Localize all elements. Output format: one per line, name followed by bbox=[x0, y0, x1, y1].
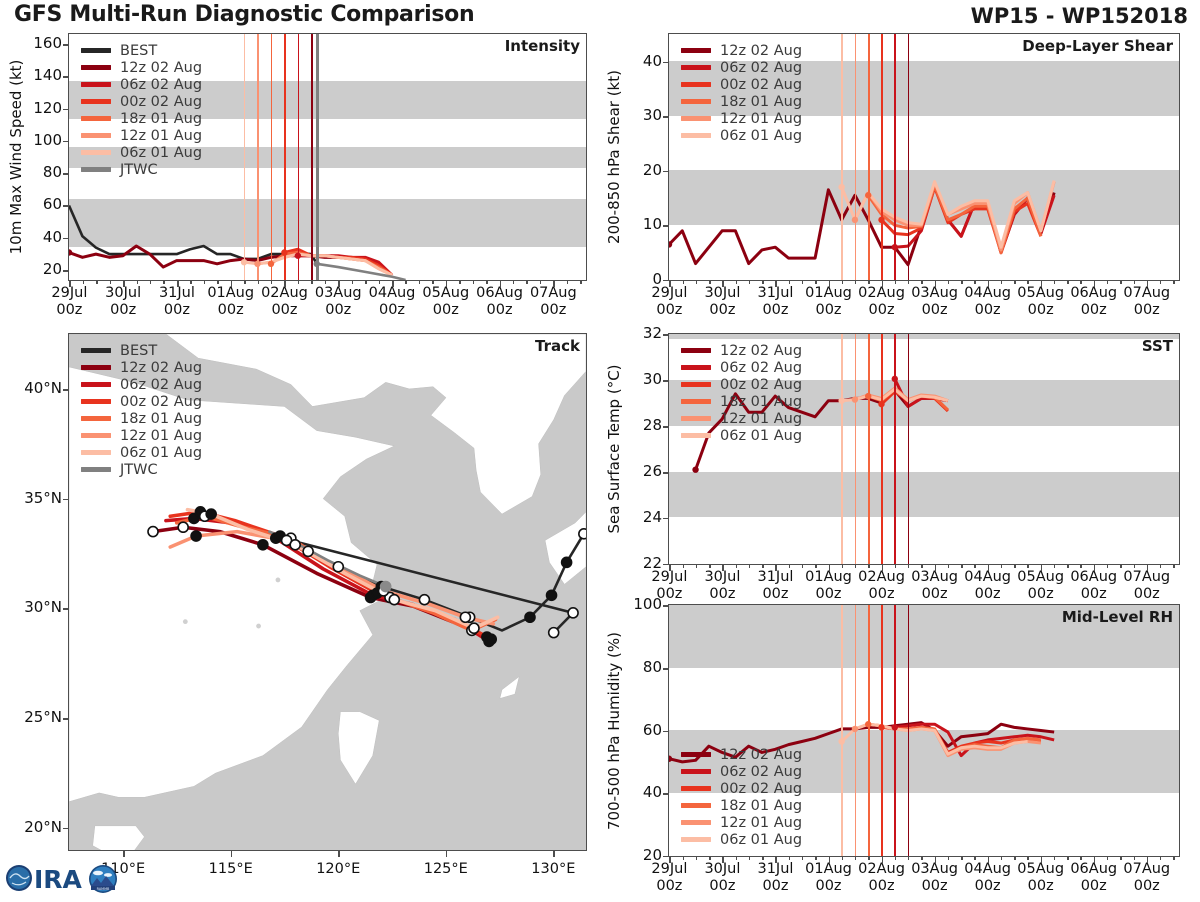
y-tick-label: 80 bbox=[622, 658, 662, 676]
x-tick-sublabel: 00z bbox=[1111, 878, 1183, 895]
legend-track: BEST12z 02 Aug06z 02 Aug00z 02 Aug18z 01… bbox=[81, 342, 202, 478]
legend-item[interactable]: 12z 02 Aug bbox=[81, 59, 202, 76]
x-minor-tick bbox=[736, 856, 737, 860]
legend-intensity: BEST12z 02 Aug06z 02 Aug00z 02 Aug18z 01… bbox=[81, 42, 202, 178]
legend-label: 18z 01 Aug bbox=[120, 411, 202, 427]
legend-color-swatch bbox=[681, 133, 711, 137]
legend-item[interactable]: 12z 02 Aug bbox=[81, 359, 202, 376]
legend-label: 00z 02 Aug bbox=[720, 377, 802, 393]
legend-label: 18z 01 Aug bbox=[720, 394, 802, 410]
legend-item[interactable]: BEST bbox=[81, 342, 202, 359]
x-minor-tick bbox=[1054, 856, 1055, 860]
legend-label: 12z 02 Aug bbox=[720, 747, 802, 763]
x-tick-mark bbox=[722, 856, 724, 863]
cira-logo: IRA RAMMB bbox=[4, 858, 124, 898]
legend-label: 06z 02 Aug bbox=[120, 77, 202, 93]
x-tick-mark bbox=[1094, 856, 1096, 863]
y-tick-mark bbox=[663, 793, 669, 795]
x-tick-mark bbox=[829, 856, 831, 863]
x-minor-tick bbox=[802, 856, 803, 860]
legend-label: BEST bbox=[120, 43, 157, 59]
legend-item[interactable]: 06z 02 Aug bbox=[81, 76, 202, 93]
legend-item[interactable]: 12z 01 Aug bbox=[681, 410, 802, 427]
y-tick-label: 60 bbox=[622, 721, 662, 739]
legend-sst: 12z 02 Aug06z 02 Aug00z 02 Aug18z 01 Aug… bbox=[681, 342, 802, 444]
plot-area-rh: Mid-Level RH12z 02 Aug06z 02 Aug00z 02 A… bbox=[668, 604, 1180, 857]
legend-color-swatch bbox=[81, 382, 111, 386]
legend-item[interactable]: 00z 02 Aug bbox=[81, 93, 202, 110]
x-tick-mark bbox=[1041, 856, 1043, 863]
legend-color-swatch bbox=[681, 382, 711, 386]
init-time-line bbox=[908, 605, 910, 856]
x-tick-label: 07Aug bbox=[1111, 861, 1183, 878]
legend-label: 06z 01 Aug bbox=[720, 428, 802, 444]
x-tick-mark bbox=[935, 856, 937, 863]
x-minor-tick bbox=[868, 856, 869, 860]
legend-item[interactable]: 18z 01 Aug bbox=[81, 110, 202, 127]
legend-color-swatch bbox=[81, 65, 111, 69]
x-tick-mark bbox=[882, 856, 884, 863]
legend-item[interactable]: 12z 02 Aug bbox=[681, 746, 802, 763]
x-minor-tick bbox=[961, 856, 962, 860]
legend-item[interactable]: 12z 01 Aug bbox=[81, 127, 202, 144]
x-minor-tick bbox=[815, 856, 816, 860]
legend-color-swatch bbox=[681, 837, 711, 841]
legend-label: 12z 01 Aug bbox=[120, 428, 202, 444]
legend-color-swatch bbox=[681, 82, 711, 86]
legend-color-swatch bbox=[81, 150, 111, 154]
x-minor-tick bbox=[1014, 856, 1015, 860]
y-tick-mark bbox=[663, 668, 669, 670]
legend-item[interactable]: 00z 02 Aug bbox=[681, 376, 802, 393]
legend-color-swatch bbox=[681, 803, 711, 807]
legend-item[interactable]: JTWC bbox=[81, 461, 202, 478]
x-tick-mark bbox=[1147, 856, 1149, 863]
x-minor-tick bbox=[683, 856, 684, 860]
x-minor-tick bbox=[1160, 856, 1161, 860]
legend-item[interactable]: 18z 01 Aug bbox=[681, 797, 802, 814]
legend-label: 06z 01 Aug bbox=[720, 832, 802, 848]
y-tick-mark bbox=[663, 605, 669, 607]
legend-item[interactable]: 00z 02 Aug bbox=[681, 76, 802, 93]
init-time-marker bbox=[669, 756, 672, 762]
legend-color-swatch bbox=[681, 48, 711, 52]
legend-item[interactable]: 06z 01 Aug bbox=[81, 444, 202, 461]
legend-color-swatch bbox=[81, 82, 111, 86]
legend-color-swatch bbox=[81, 467, 111, 471]
svg-text:RAMMB: RAMMB bbox=[97, 887, 110, 891]
legend-item[interactable]: 06z 01 Aug bbox=[681, 831, 802, 848]
legend-label: 18z 01 Aug bbox=[720, 798, 802, 814]
x-minor-tick bbox=[1107, 856, 1108, 860]
legend-label: 12z 01 Aug bbox=[120, 128, 202, 144]
legend-item[interactable]: 06z 01 Aug bbox=[681, 127, 802, 144]
x-minor-tick bbox=[789, 856, 790, 860]
panel-title-sst: SST bbox=[1142, 337, 1173, 355]
x-minor-tick bbox=[1080, 856, 1081, 860]
legend-color-swatch bbox=[681, 65, 711, 69]
legend-color-swatch bbox=[81, 416, 111, 420]
legend-label: 12z 02 Aug bbox=[720, 43, 802, 59]
y-tick-label: 100 bbox=[622, 595, 662, 613]
x-minor-tick bbox=[895, 856, 896, 860]
legend-color-swatch bbox=[81, 365, 111, 369]
legend-color-swatch bbox=[681, 416, 711, 420]
x-minor-tick bbox=[921, 856, 922, 860]
legend-color-swatch bbox=[81, 399, 111, 403]
legend-label: 06z 01 Aug bbox=[120, 445, 202, 461]
x-tick: 07Aug00z bbox=[1111, 861, 1183, 895]
legend-item[interactable]: 12z 02 Aug bbox=[681, 342, 802, 359]
x-minor-tick bbox=[696, 856, 697, 860]
legend-color-swatch bbox=[681, 348, 711, 352]
legend-label: 12z 02 Aug bbox=[720, 343, 802, 359]
panel-title-track: Track bbox=[535, 337, 580, 355]
legend-label: 06z 02 Aug bbox=[720, 360, 802, 376]
y-tick-mark bbox=[663, 856, 669, 858]
x-minor-tick bbox=[948, 856, 949, 860]
legend-item[interactable]: 06z 02 Aug bbox=[681, 763, 802, 780]
legend-color-swatch bbox=[81, 99, 111, 103]
legend-label: 12z 01 Aug bbox=[720, 815, 802, 831]
panel-title-intensity: Intensity bbox=[505, 37, 580, 55]
legend-color-swatch bbox=[81, 167, 111, 171]
x-minor-tick bbox=[762, 856, 763, 860]
legend-item[interactable]: 06z 02 Aug bbox=[681, 59, 802, 76]
legend-color-swatch bbox=[681, 769, 711, 773]
legend-label: 06z 02 Aug bbox=[720, 764, 802, 780]
legend-color-swatch bbox=[681, 433, 711, 437]
init-time-line bbox=[855, 605, 857, 856]
legend-item[interactable]: 12z 01 Aug bbox=[81, 427, 202, 444]
legend-label: 12z 02 Aug bbox=[120, 360, 202, 376]
x-tick-mark bbox=[669, 856, 671, 863]
x-tick-mark bbox=[988, 856, 990, 863]
legend-item[interactable]: 00z 02 Aug bbox=[81, 393, 202, 410]
legend-color-swatch bbox=[681, 786, 711, 790]
legend-label: JTWC bbox=[120, 462, 158, 478]
legend-item[interactable]: 18z 01 Aug bbox=[681, 393, 802, 410]
legend-label: 06z 02 Aug bbox=[720, 60, 802, 76]
legend-color-swatch bbox=[681, 99, 711, 103]
legend-color-swatch bbox=[81, 133, 111, 137]
legend-label: 12z 01 Aug bbox=[720, 411, 802, 427]
legend-label: 12z 01 Aug bbox=[720, 111, 802, 127]
legend-shear: 12z 02 Aug06z 02 Aug00z 02 Aug18z 01 Aug… bbox=[681, 42, 802, 144]
x-tick-mark bbox=[775, 856, 777, 863]
y-axis-label: 700-500 hPa Humidity (%) bbox=[605, 631, 623, 829]
legend-color-swatch bbox=[81, 450, 111, 454]
legend-item[interactable]: 06z 02 Aug bbox=[81, 376, 202, 393]
legend-item[interactable]: JTWC bbox=[81, 161, 202, 178]
legend-label: BEST bbox=[120, 343, 157, 359]
legend-label: 18z 01 Aug bbox=[720, 94, 802, 110]
init-time-line bbox=[881, 605, 883, 856]
legend-item[interactable]: 06z 02 Aug bbox=[681, 359, 802, 376]
x-minor-tick bbox=[974, 856, 975, 860]
x-minor-tick bbox=[749, 856, 750, 860]
legend-label: 18z 01 Aug bbox=[120, 111, 202, 127]
y-tick-label: 40 bbox=[622, 783, 662, 801]
legend-color-swatch bbox=[681, 365, 711, 369]
legend-item[interactable]: 00z 02 Aug bbox=[681, 780, 802, 797]
legend-label: 12z 02 Aug bbox=[120, 60, 202, 76]
legend-color-swatch bbox=[81, 433, 111, 437]
legend-item[interactable]: 18z 01 Aug bbox=[681, 93, 802, 110]
legend-label: JTWC bbox=[120, 162, 158, 178]
x-minor-tick bbox=[855, 856, 856, 860]
legend-label: 00z 02 Aug bbox=[120, 94, 202, 110]
init-time-line bbox=[868, 605, 870, 856]
init-time-line bbox=[894, 605, 896, 856]
legend-color-swatch bbox=[81, 116, 111, 120]
legend-label: 00z 02 Aug bbox=[120, 394, 202, 410]
svg-text:IRA: IRA bbox=[34, 865, 83, 894]
legend-label: 06z 02 Aug bbox=[120, 377, 202, 393]
legend-color-swatch bbox=[681, 399, 711, 403]
legend-item[interactable]: 06z 01 Aug bbox=[681, 427, 802, 444]
legend-item[interactable]: 12z 01 Aug bbox=[681, 110, 802, 127]
legend-color-swatch bbox=[81, 48, 111, 52]
legend-label: 00z 02 Aug bbox=[720, 77, 802, 93]
x-minor-tick bbox=[1067, 856, 1068, 860]
x-minor-tick bbox=[908, 856, 909, 860]
panel-title-shear: Deep-Layer Shear bbox=[1022, 37, 1173, 55]
x-minor-tick bbox=[709, 856, 710, 860]
x-minor-tick bbox=[842, 856, 843, 860]
legend-item[interactable]: 12z 01 Aug bbox=[681, 814, 802, 831]
legend-color-swatch bbox=[681, 752, 711, 756]
panel-title-rh: Mid-Level RH bbox=[1062, 608, 1173, 626]
legend-label: 00z 02 Aug bbox=[720, 781, 802, 797]
y-tick-mark bbox=[663, 731, 669, 733]
x-minor-tick bbox=[1027, 856, 1028, 860]
legend-rh: 12z 02 Aug06z 02 Aug00z 02 Aug18z 01 Aug… bbox=[681, 746, 802, 848]
legend-item[interactable]: BEST bbox=[81, 42, 202, 59]
legend-item[interactable]: 18z 01 Aug bbox=[81, 410, 202, 427]
init-time-line bbox=[841, 605, 843, 856]
legend-color-swatch bbox=[681, 116, 711, 120]
legend-color-swatch bbox=[681, 820, 711, 824]
x-minor-tick bbox=[1120, 856, 1121, 860]
x-minor-tick bbox=[1134, 856, 1135, 860]
legend-label: 06z 01 Aug bbox=[120, 145, 202, 161]
legend-color-swatch bbox=[81, 348, 111, 352]
x-minor-tick bbox=[1001, 856, 1002, 860]
legend-item[interactable]: 12z 02 Aug bbox=[681, 42, 802, 59]
legend-item[interactable]: 06z 01 Aug bbox=[81, 144, 202, 161]
x-minor-tick bbox=[1173, 856, 1174, 860]
legend-label: 06z 01 Aug bbox=[720, 128, 802, 144]
